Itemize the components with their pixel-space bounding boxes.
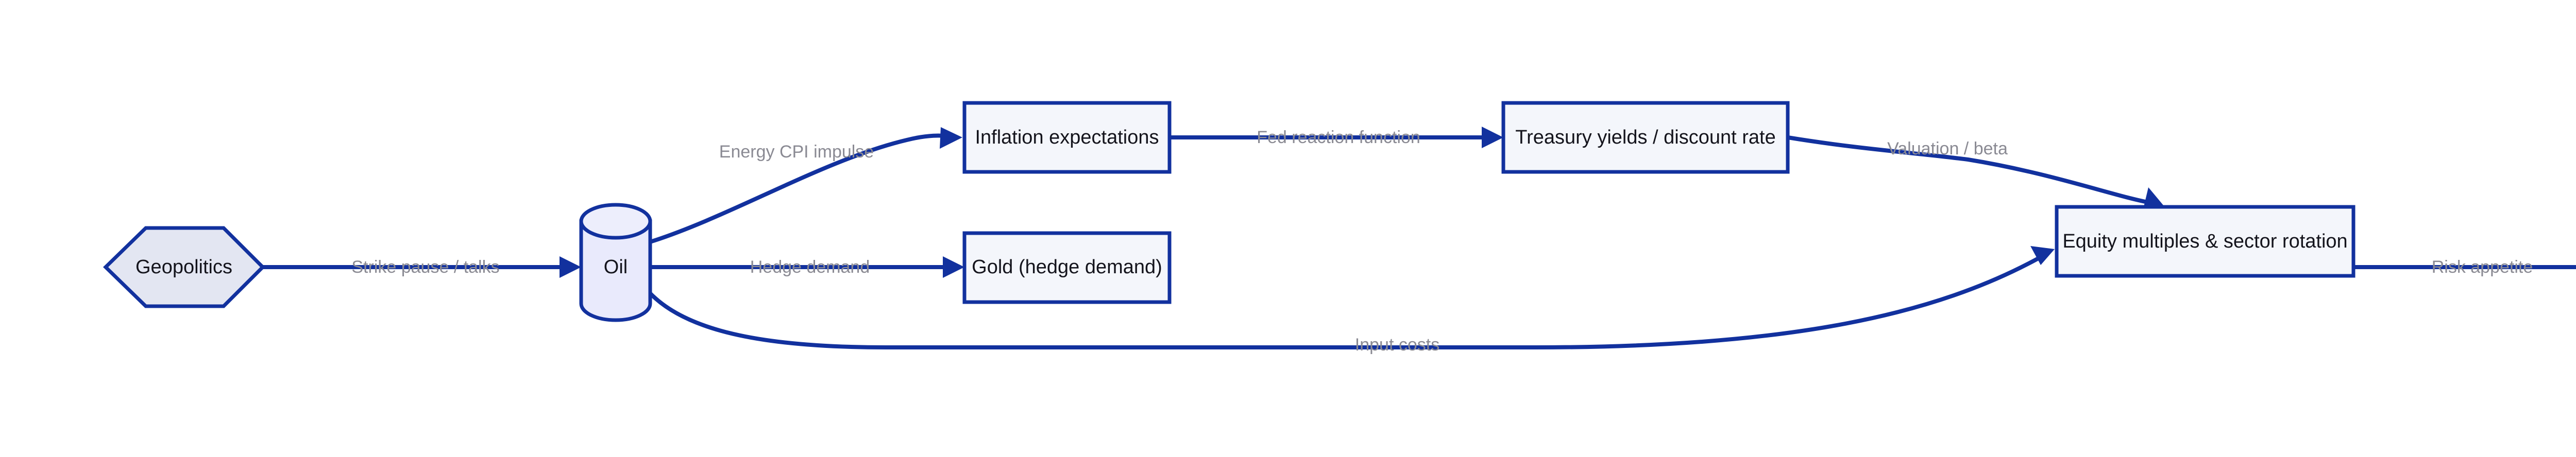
node-oil[interactable]: Oil [581, 205, 650, 320]
edge-inflation-to-treasury[interactable]: Fed reaction function [1171, 127, 1503, 148]
node-label: Inflation expectations [975, 127, 1159, 148]
edge-oil-to-inflation[interactable]: Energy CPI impulse [650, 127, 962, 242]
node-label: Equity multiples & sector rotation [2062, 231, 2347, 252]
edge-oil-to-gold[interactable]: Hedge demand [650, 256, 964, 278]
node-label: Oil [604, 256, 628, 278]
node-treasury-yields[interactable]: Treasury yields / discount rate [1503, 103, 1788, 172]
edge-label-valuation-beta: Valuation / beta [1887, 139, 2008, 159]
edge-equity-to-bitcoin[interactable]: Risk appetite [2353, 256, 2576, 278]
edge-label-hedge-demand: Hedge demand [750, 257, 870, 277]
edge-label-fed-reaction-function: Fed reaction function [1257, 128, 1420, 147]
diagram-canvas: Strike pause / talks Energy CPI impulse … [0, 0, 2576, 457]
edge-label-risk-appetite: Risk appetite [2432, 257, 2533, 277]
node-label: Gold (hedge demand) [972, 256, 1162, 278]
node-label: Treasury yields / discount rate [1515, 127, 1775, 148]
edge-label-energy-cpi-impulse: Energy CPI impulse [719, 142, 874, 162]
node-geopolitics[interactable]: Geopolitics [106, 228, 263, 306]
arrow-head-icon [560, 256, 581, 278]
arrow-head-icon [1482, 127, 1503, 148]
edge-treasury-to-equity[interactable]: Valuation / beta [1788, 137, 2164, 209]
arrow-head-icon [940, 127, 962, 149]
edge-label-input-costs: Input costs [1355, 335, 1439, 355]
node-equity-multiples[interactable]: Equity multiples & sector rotation [2057, 207, 2353, 276]
edge-label-strike-pause-talks: Strike pause / talks [351, 257, 499, 277]
node-label: Geopolitics [135, 256, 232, 278]
cylinder-top-shape [581, 205, 650, 238]
node-gold[interactable]: Gold (hedge demand) [964, 233, 1170, 302]
arrow-head-icon [943, 256, 964, 278]
edge-geopolitics-to-oil[interactable]: Strike pause / talks [263, 256, 581, 278]
node-inflation-expectations[interactable]: Inflation expectations [964, 103, 1170, 172]
flowchart-svg: Strike pause / talks Energy CPI impulse … [0, 0, 2576, 457]
